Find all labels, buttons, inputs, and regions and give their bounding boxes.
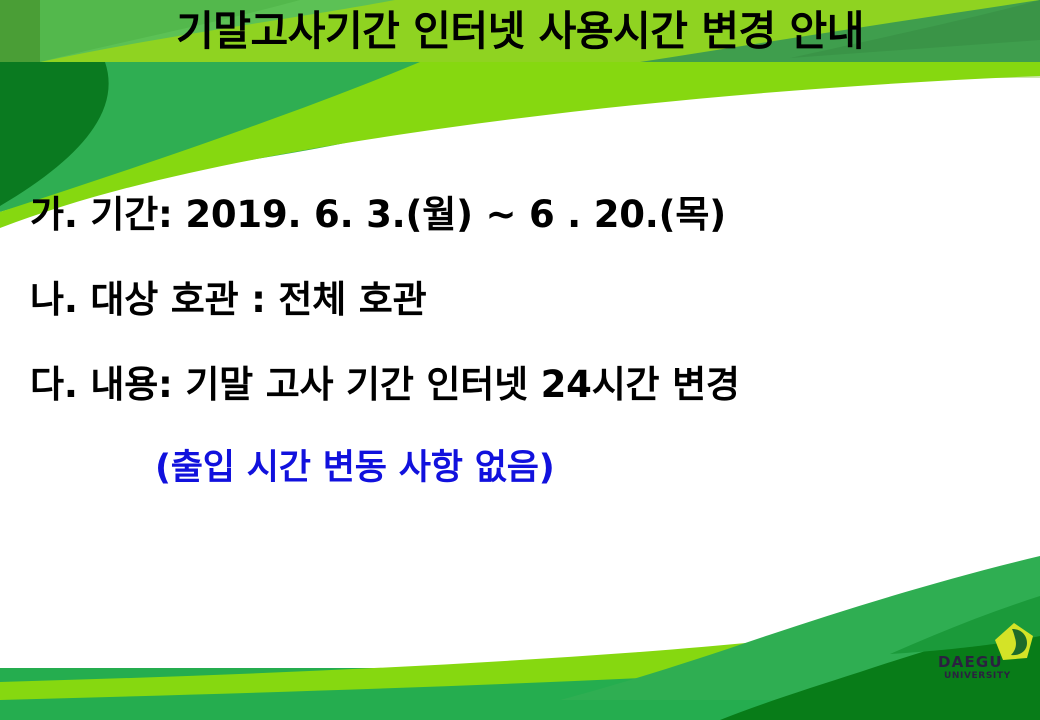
body-line-content: 다. 내용: 기말 고사 기간 인터넷 24시간 변경 bbox=[30, 366, 1020, 403]
logo-name: DAEGU bbox=[938, 655, 1030, 670]
top-left-green-arc bbox=[0, 62, 560, 212]
slide-title-bar: 기말고사기간 인터넷 사용시간 변경 안내 bbox=[0, 0, 1040, 62]
daegu-university-logo: DAEGU UNIVERSITY bbox=[938, 622, 1036, 684]
pale-under-band bbox=[0, 62, 1040, 78]
page-title: 기말고사기간 인터넷 사용시간 변경 안내 bbox=[176, 11, 864, 52]
body-line-period: 가. 기간: 2019. 6. 3.(월) ~ 6 . 20.(목) bbox=[30, 196, 1020, 233]
top-left-deep-green bbox=[0, 62, 148, 208]
pale-under-band-curve bbox=[0, 62, 1040, 78]
body-line-target: 나. 대상 호관 : 전체 호관 bbox=[30, 281, 1020, 318]
logo-wordmark: DAEGU UNIVERSITY bbox=[938, 655, 1030, 681]
bottom-bright-wedge bbox=[0, 604, 1040, 720]
slide: 기말고사기간 인터넷 사용시간 변경 안내 가. 기간: 2019. 6. 3.… bbox=[0, 0, 1040, 720]
slide-body: 가. 기간: 2019. 6. 3.(월) ~ 6 . 20.(목) 나. 대상… bbox=[30, 196, 1020, 486]
bottom-green-bar bbox=[0, 668, 1040, 720]
logo-subtitle: UNIVERSITY bbox=[944, 672, 1030, 681]
bottom-green-sweep bbox=[0, 636, 1040, 720]
body-line-note: (출입 시간 변동 사항 없음) bbox=[155, 451, 1020, 486]
